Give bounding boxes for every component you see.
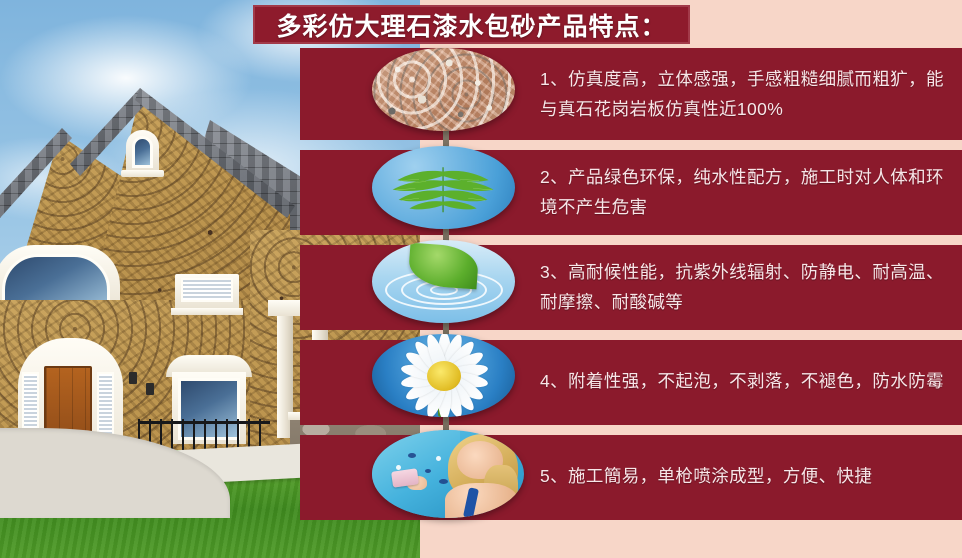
daisy-center xyxy=(427,361,461,391)
dormer-window-sill xyxy=(121,170,164,177)
woman-shoulder xyxy=(445,483,518,518)
granite-texture-oval xyxy=(372,48,515,131)
feature-text-4: 4、附着性强，不起泡，不剥落，不褪色，防水防霉 xyxy=(540,366,944,396)
leaf-on-water-ripple-oval xyxy=(372,240,515,323)
page-title: 多彩仿大理石漆水包砂产品特点： xyxy=(276,7,666,43)
paint-splat-2 xyxy=(425,469,431,473)
wall-lamp-right xyxy=(146,383,154,395)
green-fern-leaf-oval xyxy=(372,146,515,229)
feature-text-2: 2、产品绿色环保，纯水性配方，施工时对人体和环境不产生危害 xyxy=(540,162,944,222)
dormer-window xyxy=(132,136,153,168)
poster-title-bar: 多彩仿大理石漆水包砂产品特点： xyxy=(253,5,690,44)
feature-text-3: 3、高耐候性能，抗紫外线辐射、防静电、耐高温、耐摩擦、耐酸碱等 xyxy=(540,257,944,317)
fern-leaf-icon xyxy=(383,163,503,214)
upper-window-blinds xyxy=(181,278,233,302)
poster-root: 多彩仿大理石漆水包砂产品特点： 1、仿真度高，立体感强，手感粗糙细腻而粗犷，能与… xyxy=(0,0,962,558)
white-daisy-oval xyxy=(372,334,515,417)
feature-text-1: 1、仿真度高，立体感强，手感粗糙细腻而粗犷，能与真石花岗岩板仿真性近100% xyxy=(540,64,944,124)
upper-window-sill xyxy=(171,308,243,315)
feature-text-5: 5、施工簡易，单枪喷涂成型，方便、快捷 xyxy=(540,461,944,491)
woman-cleaning-wall-oval xyxy=(372,430,524,518)
wall-lamp-left xyxy=(129,372,137,384)
